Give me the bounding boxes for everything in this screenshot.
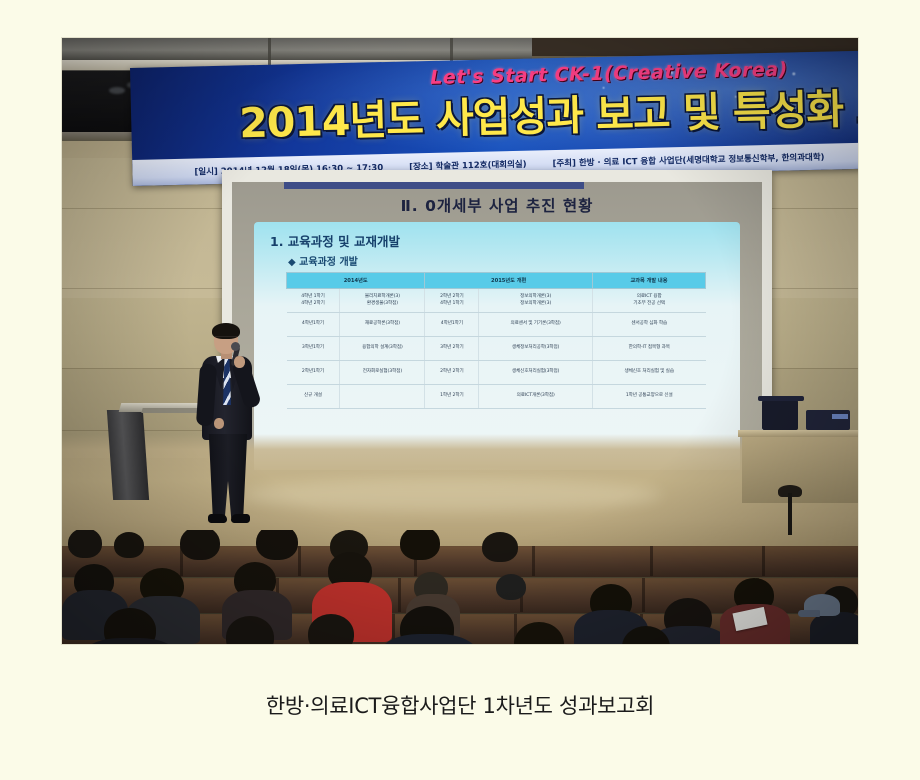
table-cell: 의료ICT개론(3학점) (479, 385, 593, 409)
table-cell: 융합의학 설계(3학점) (340, 337, 425, 361)
table-cell: 2학년 2학기4학년 1학기 (425, 289, 479, 313)
lecture-hall-photo: Let's Start CK-1(Creative Korea) 2014년도 … (62, 38, 858, 644)
side-table-top (738, 430, 858, 437)
ceiling-rail (62, 38, 532, 60)
glasses-icon (215, 336, 237, 341)
table-cell: 생체정보처리공학(3학점) (479, 337, 593, 361)
table-cell: 1학년 2학기 (425, 385, 479, 409)
slide-curriculum-table: 2014년도 2015년도 개편 교과목 개발 내용 4학년 1학기4학년 2학… (286, 272, 706, 409)
audience-head (496, 574, 526, 600)
table-cell: 한의학-IT 접목형 과목 (592, 337, 705, 361)
microphone-stand (788, 493, 792, 535)
table-header-cell: 2015년도 개편 (425, 273, 593, 289)
presenter-figure (190, 326, 268, 534)
table-cell: 신규 개설 (287, 385, 340, 409)
slide-content-panel: 1. 교육과정 및 교재개발 ◆ 교육과정 개발 2014년도 2015년도 개… (254, 222, 740, 470)
slide-heading: 1. 교육과정 및 교재개발 (270, 231, 400, 250)
table-cell: 생체신호처리실험(3학점) (479, 361, 593, 385)
table-cell: 1학년 공통교양으로 신설 (592, 385, 705, 409)
table-row: 3학년1학기융합의학 설계(3학점)3학년 2학기생체정보처리공학(3학점)한의… (287, 337, 706, 361)
table-cell: 센서공학 심화 학습 (592, 313, 705, 337)
table-cell (340, 385, 425, 409)
table-cell: 전자회로실험(3학점) (340, 361, 425, 385)
table-cell: 의료센서 및 기기론(3학점) (479, 313, 593, 337)
table-row: 4학년 1학기4학년 2학기물리치료학개론(3)환경생물(3학점)2학년 2학기… (287, 289, 706, 313)
audience-head (180, 530, 220, 560)
audience-head (400, 530, 440, 560)
table-row: 신규 개설1학년 2학기의료ICT개론(3학점)1학년 공통교양으로 신설 (287, 385, 706, 409)
lectern (107, 410, 149, 500)
audience-head (482, 532, 518, 562)
table-header-row: 2014년도 2015년도 개편 교과목 개발 내용 (287, 273, 706, 289)
audience-head (68, 530, 102, 558)
slide-top-accent (284, 182, 584, 189)
slide-subheading: ◆ 교육과정 개발 (288, 253, 358, 268)
table-row: 4학년1학기재료공학론(3학점)4학년1학기의료센서 및 기기론(3학점)센서공… (287, 313, 706, 337)
equipment-bag (762, 400, 798, 430)
table-cell: 재료공학론(3학점) (340, 313, 425, 337)
table-cell: 4학년1학기 (287, 313, 340, 337)
table-row: 2학년1학기전자회로실험(3학점)2학년 2학기생체신호처리실험(3학점)생체신… (287, 361, 706, 385)
equipment-case (806, 410, 850, 430)
table-cell: 4학년1학기 (425, 313, 479, 337)
table-header-cell: 2014년도 (287, 273, 425, 289)
table-cell: 3학년1학기 (287, 337, 340, 361)
table-header-cell: 교과목 개발 내용 (592, 273, 705, 289)
table-body: 4학년 1학기4학년 2학기물리치료학개론(3)환경생물(3학점)2학년 2학기… (287, 289, 706, 409)
photo-caption: 한방·의료ICT융합사업단 1차년도 성과보고회 (0, 690, 920, 720)
audience-head (256, 530, 298, 560)
page-container: Let's Start CK-1(Creative Korea) 2014년도 … (0, 0, 920, 780)
slide-section-title: Ⅱ. 0개세부 사업 추진 현황 (232, 194, 762, 216)
table-cell: 정보의학개론(3)정보의학개론(3) (479, 289, 593, 313)
table-cell: 4학년 1학기4학년 2학기 (287, 289, 340, 313)
audience-head (114, 532, 144, 558)
table-cell: 물리치료학개론(3)환경생물(3학점) (340, 289, 425, 313)
banner-footer-host: [주최] 한방 · 의료 ICT 융합 사업단(세명대학교 정보통신학부, 한의… (552, 151, 824, 169)
event-banner: Let's Start CK-1(Creative Korea) 2014년도 … (130, 49, 858, 186)
table-cell: 3학년 2학기 (425, 337, 479, 361)
table-cell: 2학년1학기 (287, 361, 340, 385)
table-cell: 2학년 2학기 (425, 361, 479, 385)
table-cell: 생체신호 처리실험 및 실습 (592, 361, 705, 385)
table-cell: 의료ICT 융합기초부 전공 선택 (592, 289, 705, 313)
